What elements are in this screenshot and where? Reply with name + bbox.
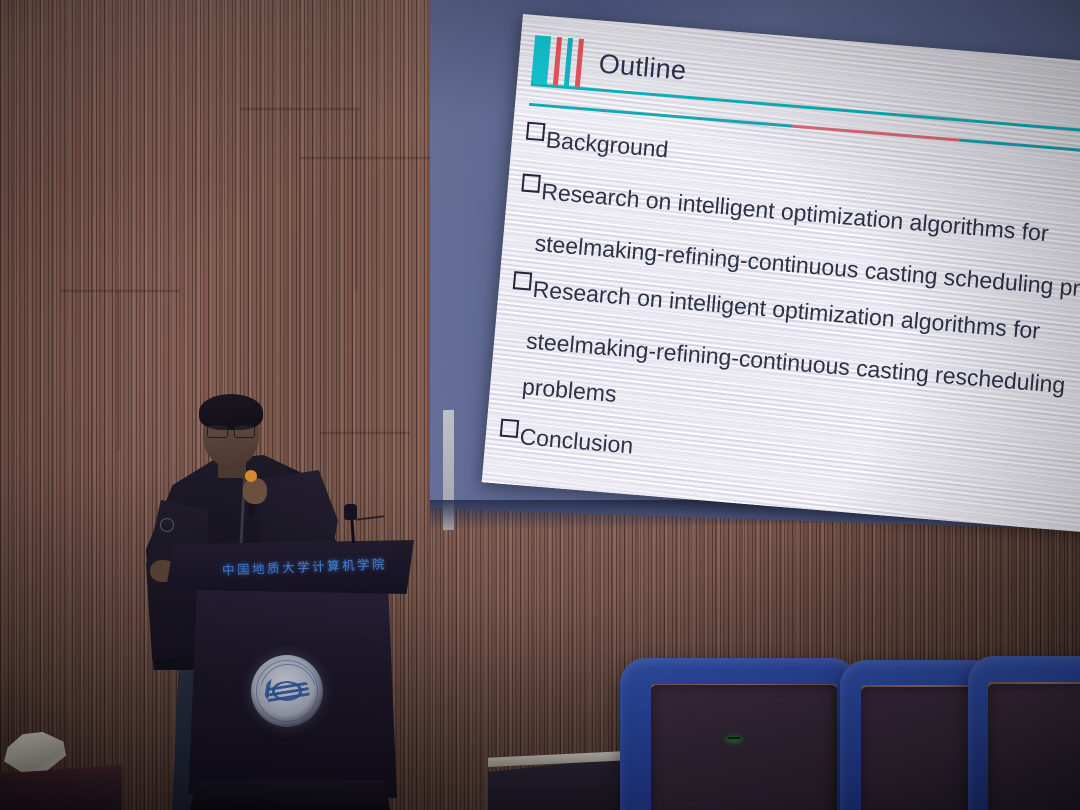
podium-base bbox=[190, 780, 390, 810]
wall-seam bbox=[355, 110, 357, 290]
slide-bullet-list: Background Research on intelligent optim… bbox=[497, 115, 1080, 514]
jacket-badge bbox=[160, 518, 174, 532]
red-bar-icon bbox=[553, 37, 562, 85]
presentation-slide: Outline Background Research on intellige… bbox=[482, 14, 1080, 534]
checkbox-bullet-icon bbox=[500, 419, 520, 438]
checkbox-bullet-icon bbox=[513, 271, 533, 290]
glasses-left-lens bbox=[207, 425, 228, 438]
bullet-text: Conclusion bbox=[518, 413, 635, 468]
glasses-icon bbox=[206, 425, 256, 436]
presentation-photo-scene: Outline Background Research on intellige… bbox=[0, 0, 1080, 810]
teal-bar-icon bbox=[564, 38, 573, 86]
wall-seam bbox=[240, 108, 360, 110]
university-emblem bbox=[251, 655, 323, 727]
wall-seam bbox=[300, 157, 430, 159]
wall-seam bbox=[118, 290, 120, 450]
slide-title-decoration bbox=[531, 35, 584, 87]
wall-seam bbox=[60, 290, 180, 292]
checkbox-bullet-icon bbox=[521, 174, 541, 193]
glasses-right-lens bbox=[234, 425, 255, 438]
bullet-text: Background bbox=[544, 116, 670, 172]
seat-back-panel bbox=[988, 684, 1080, 810]
seat-emblem-bar bbox=[728, 737, 740, 739]
seat-back-panel bbox=[651, 685, 837, 810]
seat-back-panel bbox=[861, 687, 986, 810]
speaker-right-hand bbox=[243, 478, 267, 504]
microphone-head-icon bbox=[245, 470, 257, 482]
slide-title: Outline bbox=[597, 41, 688, 94]
checkbox-bullet-icon bbox=[526, 122, 546, 141]
auditorium-seat bbox=[968, 656, 1080, 810]
wall-seam bbox=[320, 432, 410, 434]
cyan-block-icon bbox=[531, 35, 551, 84]
podium-microphone-icon bbox=[344, 504, 357, 520]
auditorium-seat bbox=[620, 658, 858, 810]
seat-emblem-icon bbox=[725, 735, 743, 744]
